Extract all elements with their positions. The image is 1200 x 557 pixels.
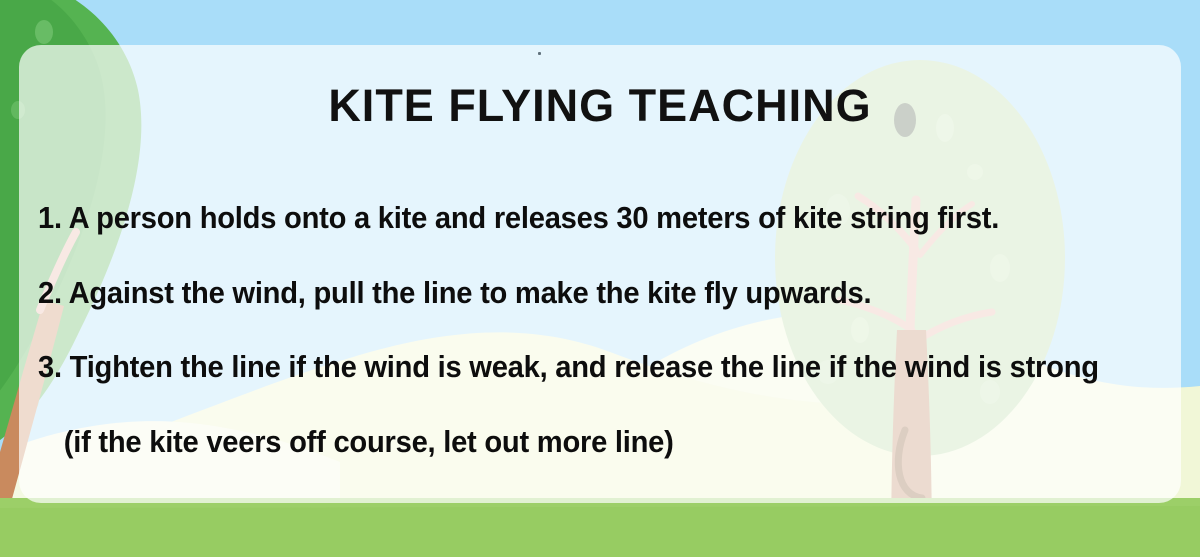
content-card-inner: KITE FLYING TEACHING 1. A person holds o… [19,45,1181,503]
crown-dot [35,20,53,44]
list-item: 2. Against the wind, pull the line to ma… [38,256,1118,331]
slide-root: KITE FLYING TEACHING 1. A person holds o… [0,0,1200,557]
list-item: 3. Tighten the line if the wind is weak,… [38,330,1118,405]
instruction-list: 1. A person holds onto a kite and releas… [38,181,1169,479]
content-card: KITE FLYING TEACHING 1. A person holds o… [19,45,1181,503]
list-item: (if the kite veers off course, let out m… [38,405,1118,480]
list-item: 1. A person holds onto a kite and releas… [38,181,1118,256]
page-title: KITE FLYING TEACHING [19,83,1181,128]
dust-speck-artifact [538,52,541,55]
